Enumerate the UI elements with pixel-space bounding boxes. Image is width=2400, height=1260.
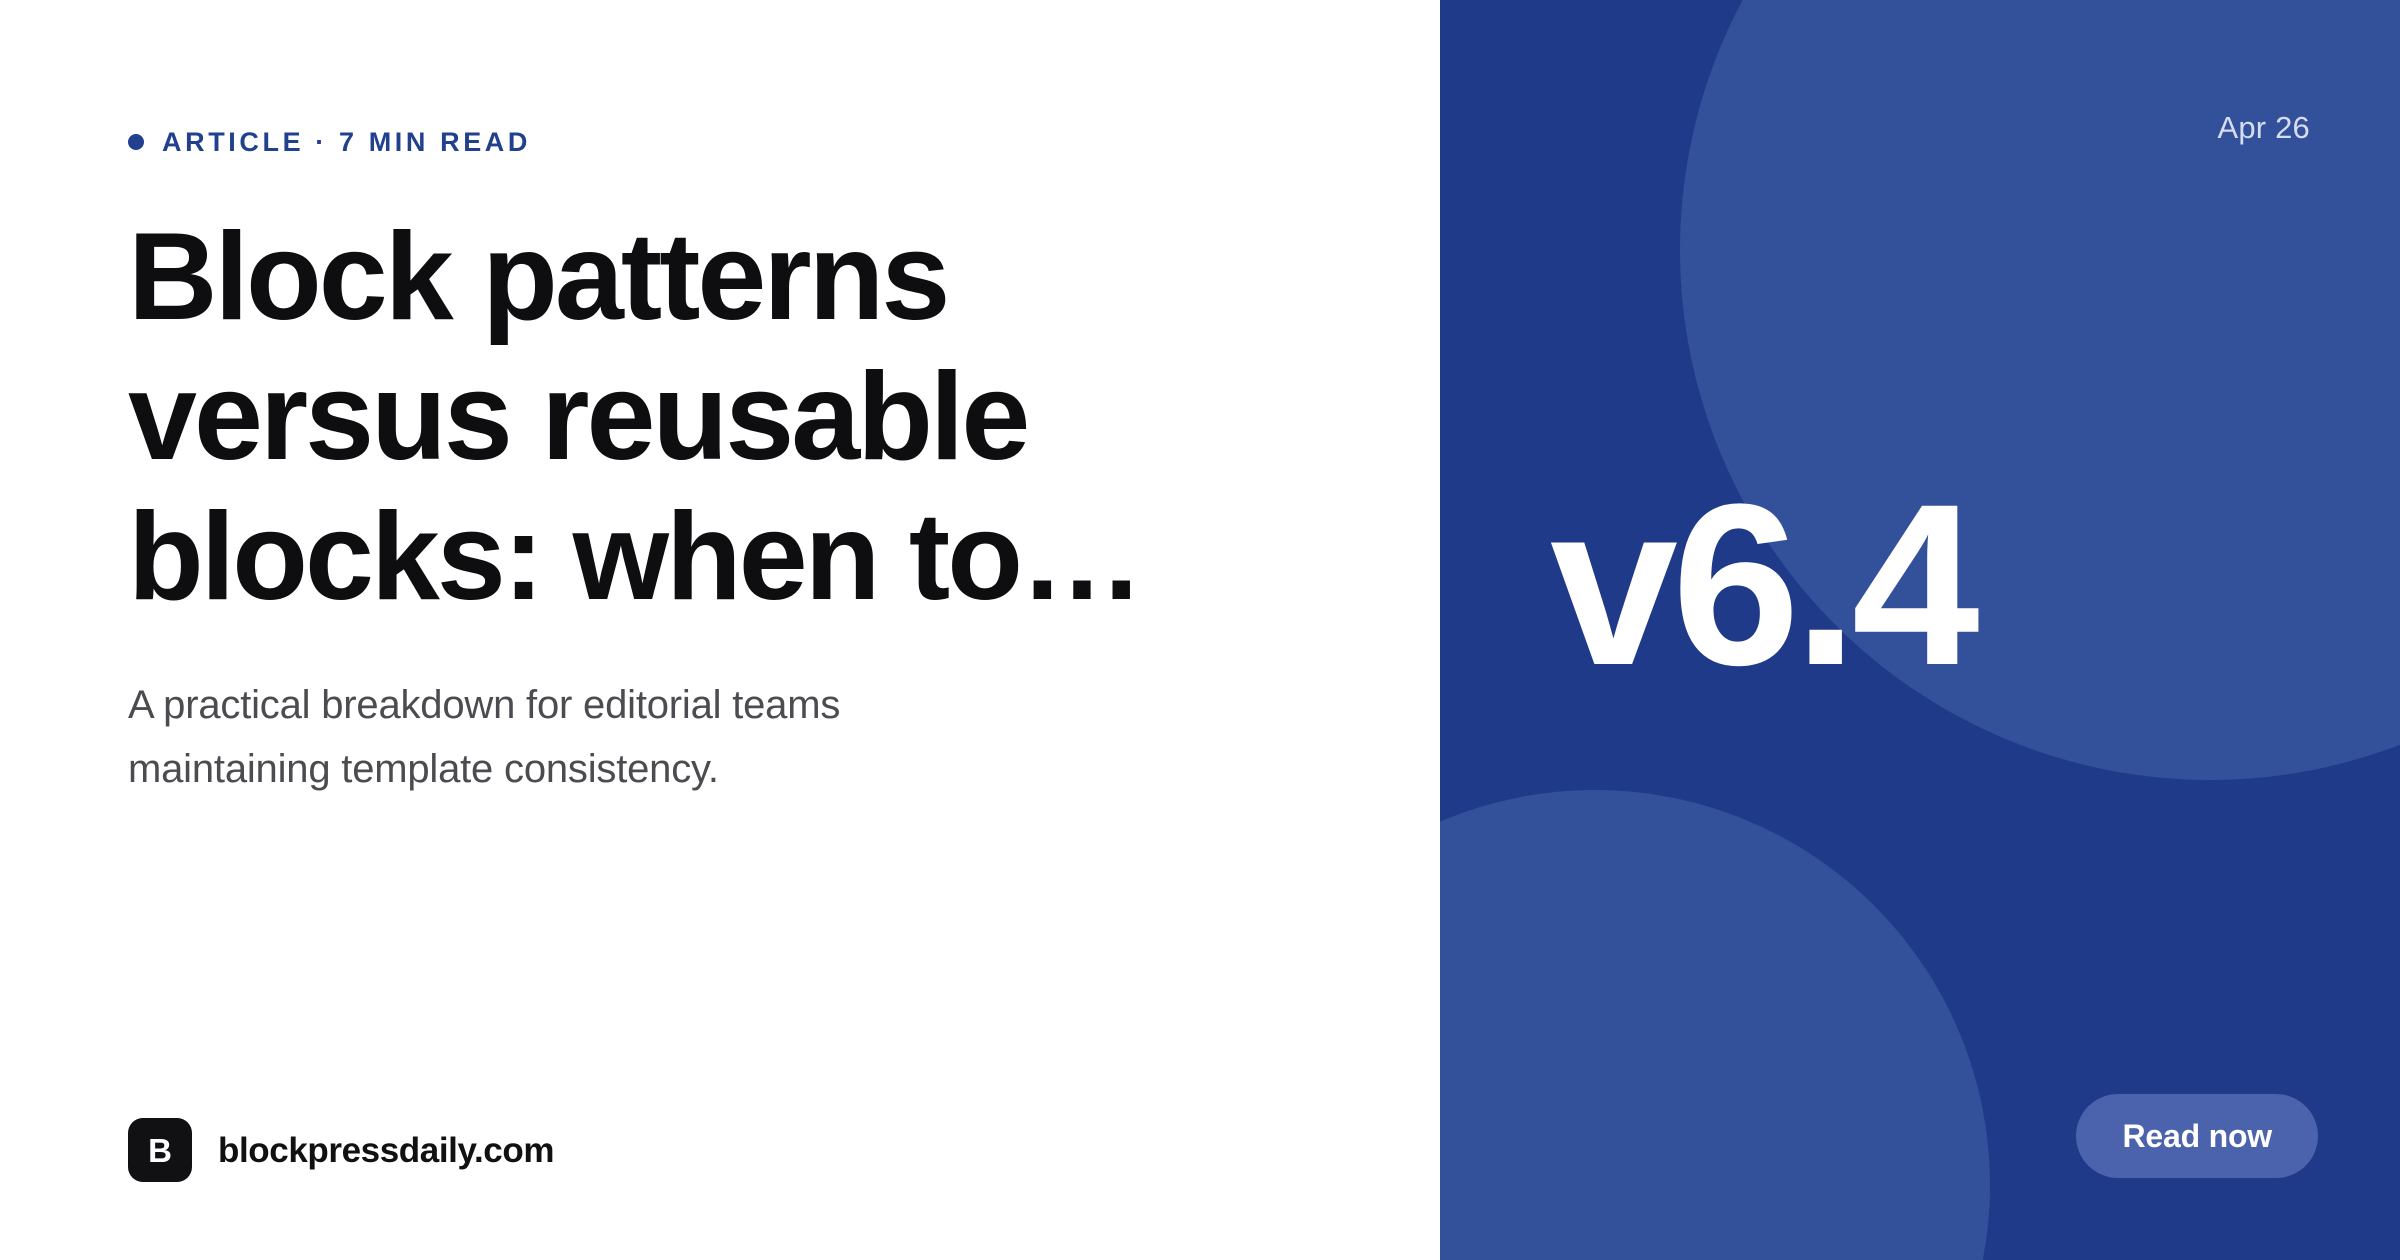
subtitle-line-2: maintaining template consistency. — [128, 737, 1048, 801]
subtitle-line-1: A practical breakdown for editorial team… — [128, 673, 1048, 737]
eyebrow-label: ARTICLE · 7 MIN READ — [162, 129, 531, 156]
bullet-dot-icon — [128, 134, 144, 150]
page-subtitle: A practical breakdown for editorial team… — [128, 673, 1048, 801]
headline-line-1: Block patterns — [128, 207, 1248, 347]
version-visual-panel: Apr 26 v6.4 Read now — [1440, 0, 2400, 1260]
version-number: v6.4 — [1550, 470, 1974, 700]
eyebrow: ARTICLE · 7 MIN READ — [128, 125, 1440, 159]
brand-footer[interactable]: B blockpressdaily.com — [128, 1118, 554, 1182]
brand-domain-label: blockpressdaily.com — [218, 1133, 554, 1168]
page-title: Block patterns versus reusable blocks: w… — [128, 207, 1248, 627]
date-label: Apr 26 — [2217, 112, 2310, 143]
left-content-panel: ARTICLE · 7 MIN READ Block patterns vers… — [0, 0, 1440, 1260]
brand-logo-letter: B — [148, 1134, 172, 1167]
decorative-circle-bottom — [1440, 790, 1990, 1260]
article-share-card: ARTICLE · 7 MIN READ Block patterns vers… — [0, 0, 2400, 1260]
read-now-button[interactable]: Read now — [2076, 1094, 2318, 1178]
brand-logo-icon: B — [128, 1118, 192, 1182]
headline-line-2: versus reusable — [128, 347, 1248, 487]
headline-line-3: blocks: when to… — [128, 487, 1248, 627]
